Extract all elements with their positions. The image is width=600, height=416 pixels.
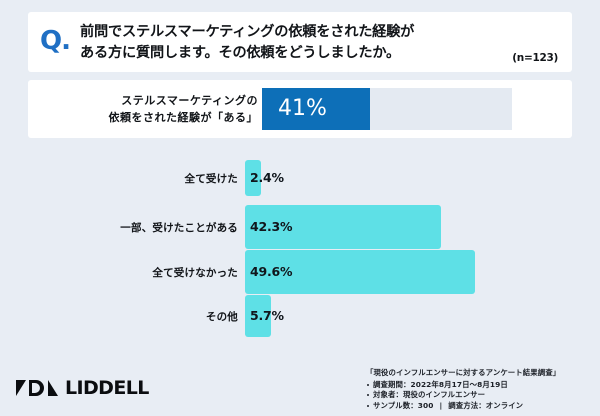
- brand-logo: LIDDELL: [14, 378, 149, 398]
- chart-row: その他5.7%: [0, 295, 600, 337]
- chart-category-label: 全て受けなかった: [152, 265, 238, 280]
- brand-name: LIDDELL: [65, 379, 149, 398]
- chart-row: 全て受けた2.4%: [0, 160, 600, 196]
- liddell-logo-icon: [14, 378, 60, 398]
- highlight-value-label: 41%: [262, 98, 327, 120]
- highlight-progress-fill: 41%: [262, 88, 370, 130]
- question-line-1: 前問でステルスマーケティングの依頼をされた経験が: [80, 22, 500, 43]
- survey-sample: サンプル数：300: [373, 401, 433, 410]
- survey-meta: 「現役のインフルエンサーに対するアンケート結果調査」 調査期間：2022年8月1…: [366, 368, 592, 411]
- chart-value-label: 2.4%: [250, 170, 284, 185]
- survey-sample-method: サンプル数：300|調査方法：オンライン: [373, 401, 592, 412]
- chart-value-label: 5.7%: [250, 308, 284, 323]
- survey-target: 対象者：現役のインフルエンサー: [373, 390, 592, 401]
- question-mark-icon: Q.: [40, 28, 70, 54]
- survey-method: 調査方法：オンライン: [448, 401, 523, 410]
- question-panel: Q. 前問でステルスマーケティングの依頼をされた経験が ある方に質問します。その…: [28, 12, 572, 72]
- chart-value-label: 49.6%: [250, 264, 292, 279]
- survey-separator: |: [433, 401, 448, 412]
- chart-category-label: その他: [206, 309, 238, 324]
- chart-category-label: 一部、受けたことがある: [120, 220, 238, 235]
- highlight-panel: ステルスマーケティングの 依頼をされた経験が「ある」 41%: [28, 80, 572, 138]
- chart-value-label: 42.3%: [250, 219, 292, 234]
- sample-size-note: (n=123): [512, 52, 558, 64]
- highlight-label: ステルスマーケティングの 依頼をされた経験が「ある」: [68, 92, 258, 126]
- chart-category-label: 全て受けた: [185, 171, 239, 186]
- question-text: 前問でステルスマーケティングの依頼をされた経験が ある方に質問します。その依頼を…: [80, 22, 500, 64]
- survey-meta-list: 調査期間：2022年8月17日～8月19日 対象者：現役のインフルエンサー サン…: [366, 380, 592, 412]
- highlight-progress-track: 41%: [262, 88, 512, 130]
- survey-title: 「現役のインフルエンサーに対するアンケート結果調査」: [366, 368, 592, 379]
- chart-row: 全て受けなかった49.6%: [0, 250, 600, 294]
- bar-chart: 全て受けた2.4%一部、受けたことがある42.3%全て受けなかった49.6%その…: [0, 160, 600, 360]
- infographic-canvas: Q. 前問でステルスマーケティングの依頼をされた経験が ある方に質問します。その…: [0, 0, 600, 416]
- highlight-label-line-1: ステルスマーケティングの: [68, 92, 258, 109]
- survey-period: 調査期間：2022年8月17日～8月19日: [373, 380, 592, 391]
- chart-row: 一部、受けたことがある42.3%: [0, 205, 600, 249]
- question-line-2: ある方に質問します。その依頼をどうしましたか。: [80, 43, 500, 64]
- highlight-label-line-2: 依頼をされた経験が「ある」: [68, 109, 258, 126]
